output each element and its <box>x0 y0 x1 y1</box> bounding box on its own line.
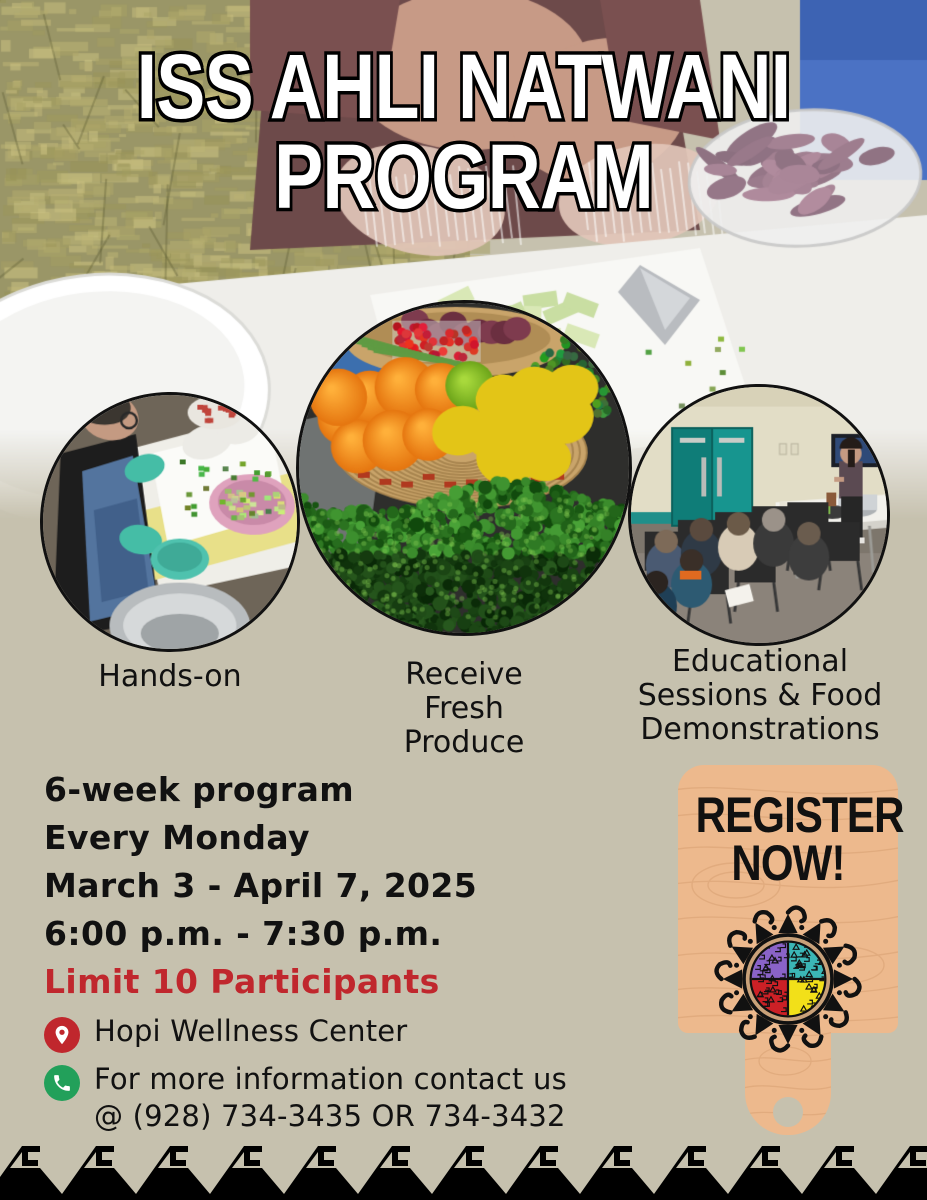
hopi-medicine-wheel-emblem <box>714 905 862 1053</box>
caption-produce-line-3: Produce <box>296 726 632 760</box>
register-line-2: NOW! <box>696 839 881 887</box>
caption-sessions-line-1: Educational <box>610 645 910 679</box>
hopi-wave-spiral-border <box>0 1126 927 1200</box>
contact-phone-row: For more information contact us @ (928) … <box>44 1061 604 1135</box>
detail-dates: March 3 - April 7, 2025 <box>44 866 604 905</box>
flyer-page: ISS AHLI NATWANI PROGRAM Hands-on Receiv… <box>0 0 927 1200</box>
flyer-title: ISS AHLI NATWANI PROGRAM <box>0 42 927 222</box>
educational-session-photo <box>631 387 887 643</box>
map-pin-icon <box>44 1017 80 1053</box>
feature-circle-sessions <box>628 384 890 646</box>
feature-circle-produce <box>296 300 632 636</box>
contact-phone-line-1: For more information contact us <box>94 1062 567 1096</box>
detail-duration: 6-week program <box>44 770 604 809</box>
program-details: 6-week program Every Monday March 3 - Ap… <box>44 770 604 1143</box>
register-line-1: REGISTER <box>696 791 881 839</box>
caption-produce-line-1: Receive <box>296 658 632 692</box>
contact-phone-text: For more information contact us @ (928) … <box>94 1061 567 1135</box>
detail-limit: Limit 10 Participants <box>44 962 604 1001</box>
detail-day: Every Monday <box>44 818 604 857</box>
cutting-board-hole <box>773 1097 803 1127</box>
phone-icon <box>44 1065 80 1101</box>
fresh-produce-photo <box>299 303 629 633</box>
caption-produce-line-2: Fresh <box>296 692 632 726</box>
register-now-label: REGISTER NOW! <box>678 791 898 887</box>
contact-location-row: Hopi Wellness Center <box>44 1013 604 1053</box>
caption-produce: Receive Fresh Produce <box>296 658 632 761</box>
contact-location-text: Hopi Wellness Center <box>94 1013 407 1050</box>
feature-circle-hands-on <box>40 392 300 652</box>
detail-time: 6:00 p.m. - 7:30 p.m. <box>44 914 604 953</box>
caption-sessions-line-2: Sessions & Food <box>610 679 910 713</box>
caption-sessions-line-3: Demonstrations <box>610 713 910 747</box>
title-line-1: ISS AHLI NATWANI <box>93 42 835 132</box>
title-line-2: PROGRAM <box>93 132 835 222</box>
register-now-cutting-board: REGISTER NOW! <box>678 765 898 1145</box>
caption-hands-on: Hands-on <box>40 660 300 694</box>
caption-sessions: Educational Sessions & Food Demonstratio… <box>610 645 910 748</box>
hands-on-photo <box>43 395 297 649</box>
